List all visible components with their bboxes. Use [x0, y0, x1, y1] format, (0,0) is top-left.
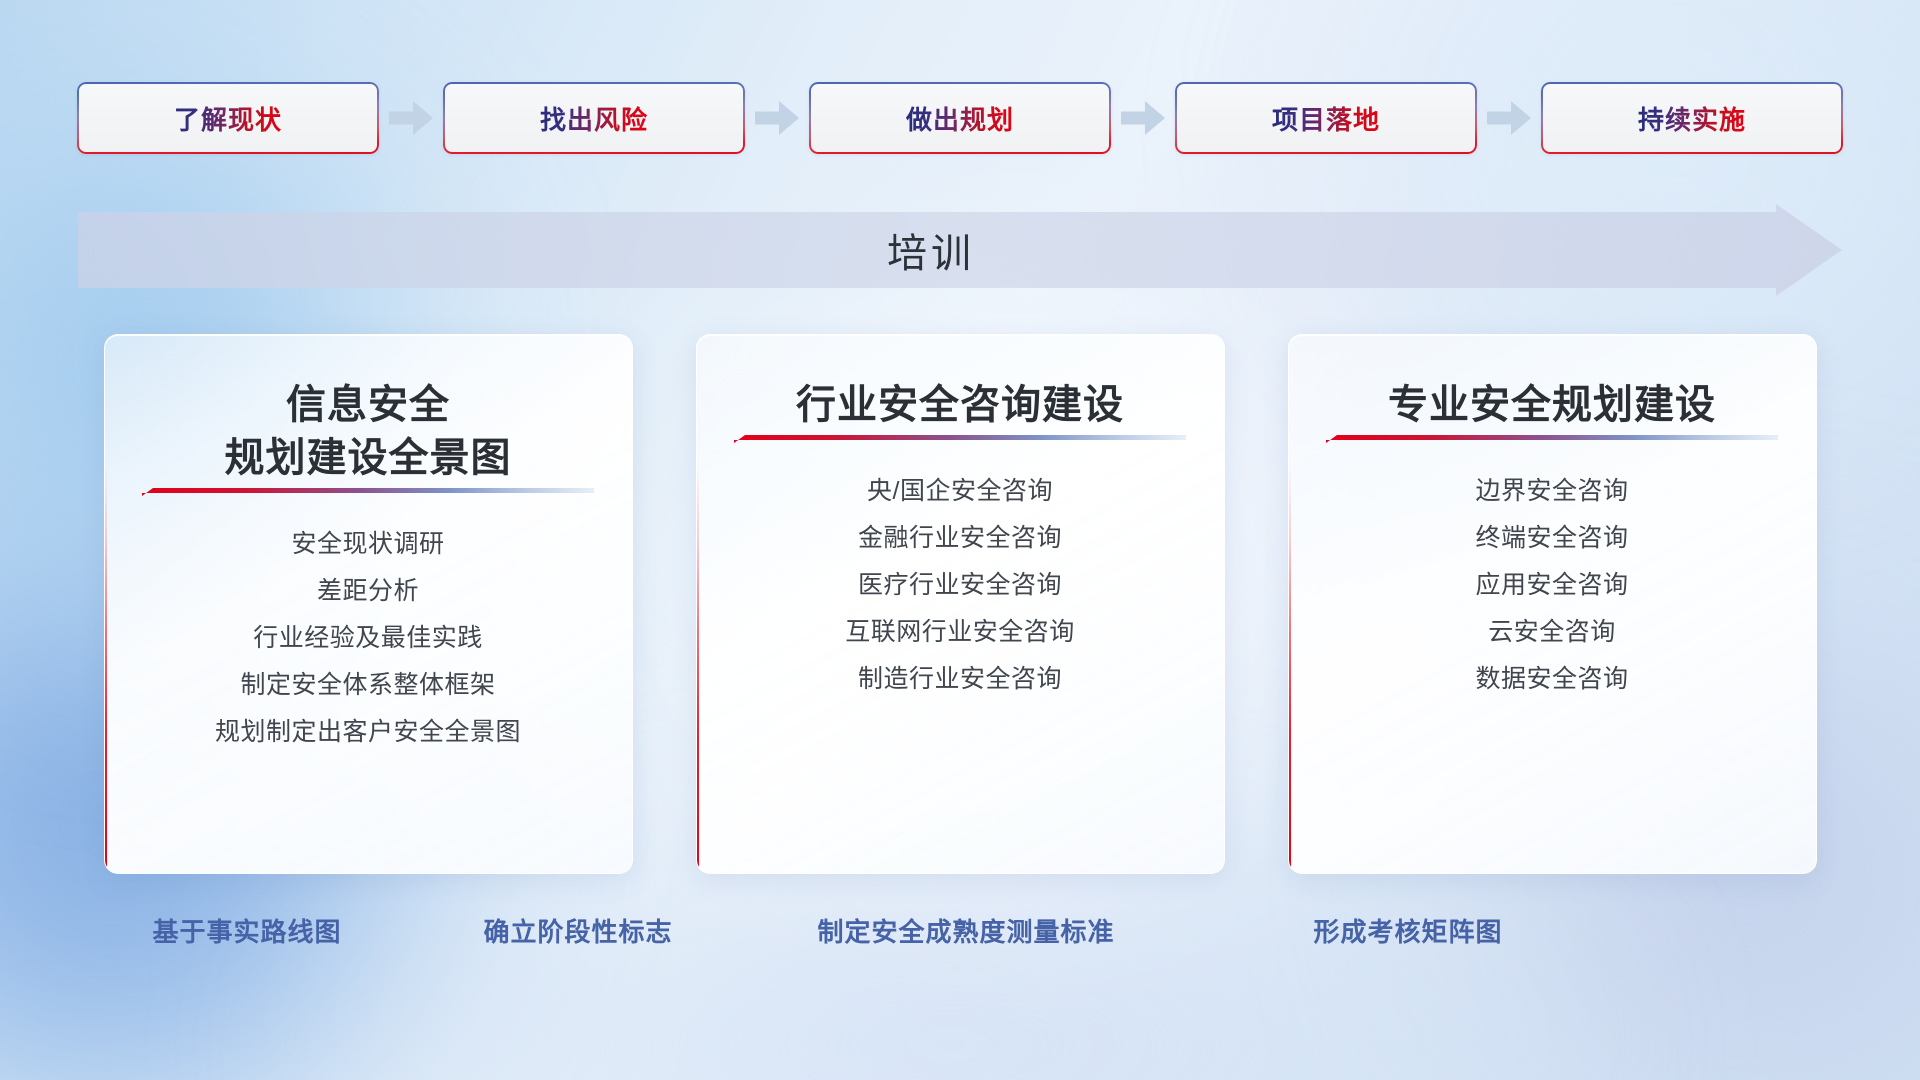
- card-item-list: 央/国企安全咨询 金融行业安全咨询 医疗行业安全咨询 互联网行业安全咨询 制造行…: [697, 444, 1224, 703]
- training-banner: 培训: [78, 204, 1842, 296]
- card-title: 信息安全 规划建设全景图: [105, 335, 632, 485]
- footer-label-4: 形成考核矩阵图: [1313, 912, 1502, 949]
- list-item: 边界安全咨询: [1315, 468, 1790, 515]
- list-item: 行业经验及最佳实践: [131, 615, 606, 662]
- list-item: 差距分析: [131, 568, 606, 615]
- step-label: 项目落地: [1272, 100, 1380, 137]
- list-item: 金融行业安全咨询: [723, 515, 1198, 562]
- list-item: 互联网行业安全咨询: [723, 609, 1198, 656]
- step-label: 持续实施: [1638, 100, 1746, 137]
- right-arrow-icon: [1477, 95, 1541, 141]
- list-item: 安全现状调研: [131, 521, 606, 568]
- card-title: 专业安全规划建设: [1289, 335, 1816, 432]
- slide-canvas: 了解现状 找出风险 做出规划 项目落地: [0, 0, 1920, 1080]
- list-item: 制造行业安全咨询: [723, 656, 1198, 703]
- list-item: 制定安全体系整体框架: [131, 662, 606, 709]
- list-item: 数据安全咨询: [1315, 656, 1790, 703]
- card-divider: [734, 432, 1186, 444]
- card-panorama[interactable]: 信息安全 规划建设全景图: [104, 334, 633, 874]
- right-arrow-icon: [745, 95, 809, 141]
- step-box-3[interactable]: 做出规划: [809, 82, 1111, 154]
- step-label: 了解现状: [174, 100, 282, 137]
- list-item: 应用安全咨询: [1315, 562, 1790, 609]
- step-label: 找出风险: [540, 100, 648, 137]
- step-box-2[interactable]: 找出风险: [443, 82, 745, 154]
- card-professional-planning[interactable]: 专业安全规划建设: [1288, 334, 1817, 874]
- card-divider: [142, 485, 594, 497]
- card-divider: [1326, 432, 1778, 444]
- footer-label-3: 制定安全成熟度测量标准: [817, 912, 1114, 949]
- process-step-row: 了解现状 找出风险 做出规划 项目落地: [0, 78, 1920, 158]
- list-item: 云安全咨询: [1315, 609, 1790, 656]
- right-arrow-icon: [379, 95, 443, 141]
- step-box-1[interactable]: 了解现状: [77, 82, 379, 154]
- list-item: 医疗行业安全咨询: [723, 562, 1198, 609]
- list-item: 规划制定出客户安全全景图: [131, 709, 606, 756]
- step-box-4[interactable]: 项目落地: [1175, 82, 1477, 154]
- card-item-list: 安全现状调研 差距分析 行业经验及最佳实践 制定安全体系整体框架 规划制定出客户…: [105, 497, 632, 756]
- card-industry-consulting[interactable]: 行业安全咨询建设: [696, 334, 1225, 874]
- card-row: 信息安全 规划建设全景图: [0, 334, 1920, 874]
- card-item-list: 边界安全咨询 终端安全咨询 应用安全咨询 云安全咨询 数据安全咨询: [1289, 444, 1816, 703]
- list-item: 央/国企安全咨询: [723, 468, 1198, 515]
- step-label: 做出规划: [906, 100, 1014, 137]
- right-arrow-icon: [1111, 95, 1175, 141]
- card-title: 行业安全咨询建设: [697, 335, 1224, 432]
- footer-label-1: 基于事实路线图: [152, 912, 341, 949]
- list-item: 终端安全咨询: [1315, 515, 1790, 562]
- step-box-5[interactable]: 持续实施: [1541, 82, 1843, 154]
- banner-label: 培训: [78, 204, 1842, 296]
- footer-label-row: 基于事实路线图 确立阶段性标志 制定安全成熟度测量标准 形成考核矩阵图: [0, 912, 1920, 958]
- footer-label-2: 确立阶段性标志: [483, 912, 672, 949]
